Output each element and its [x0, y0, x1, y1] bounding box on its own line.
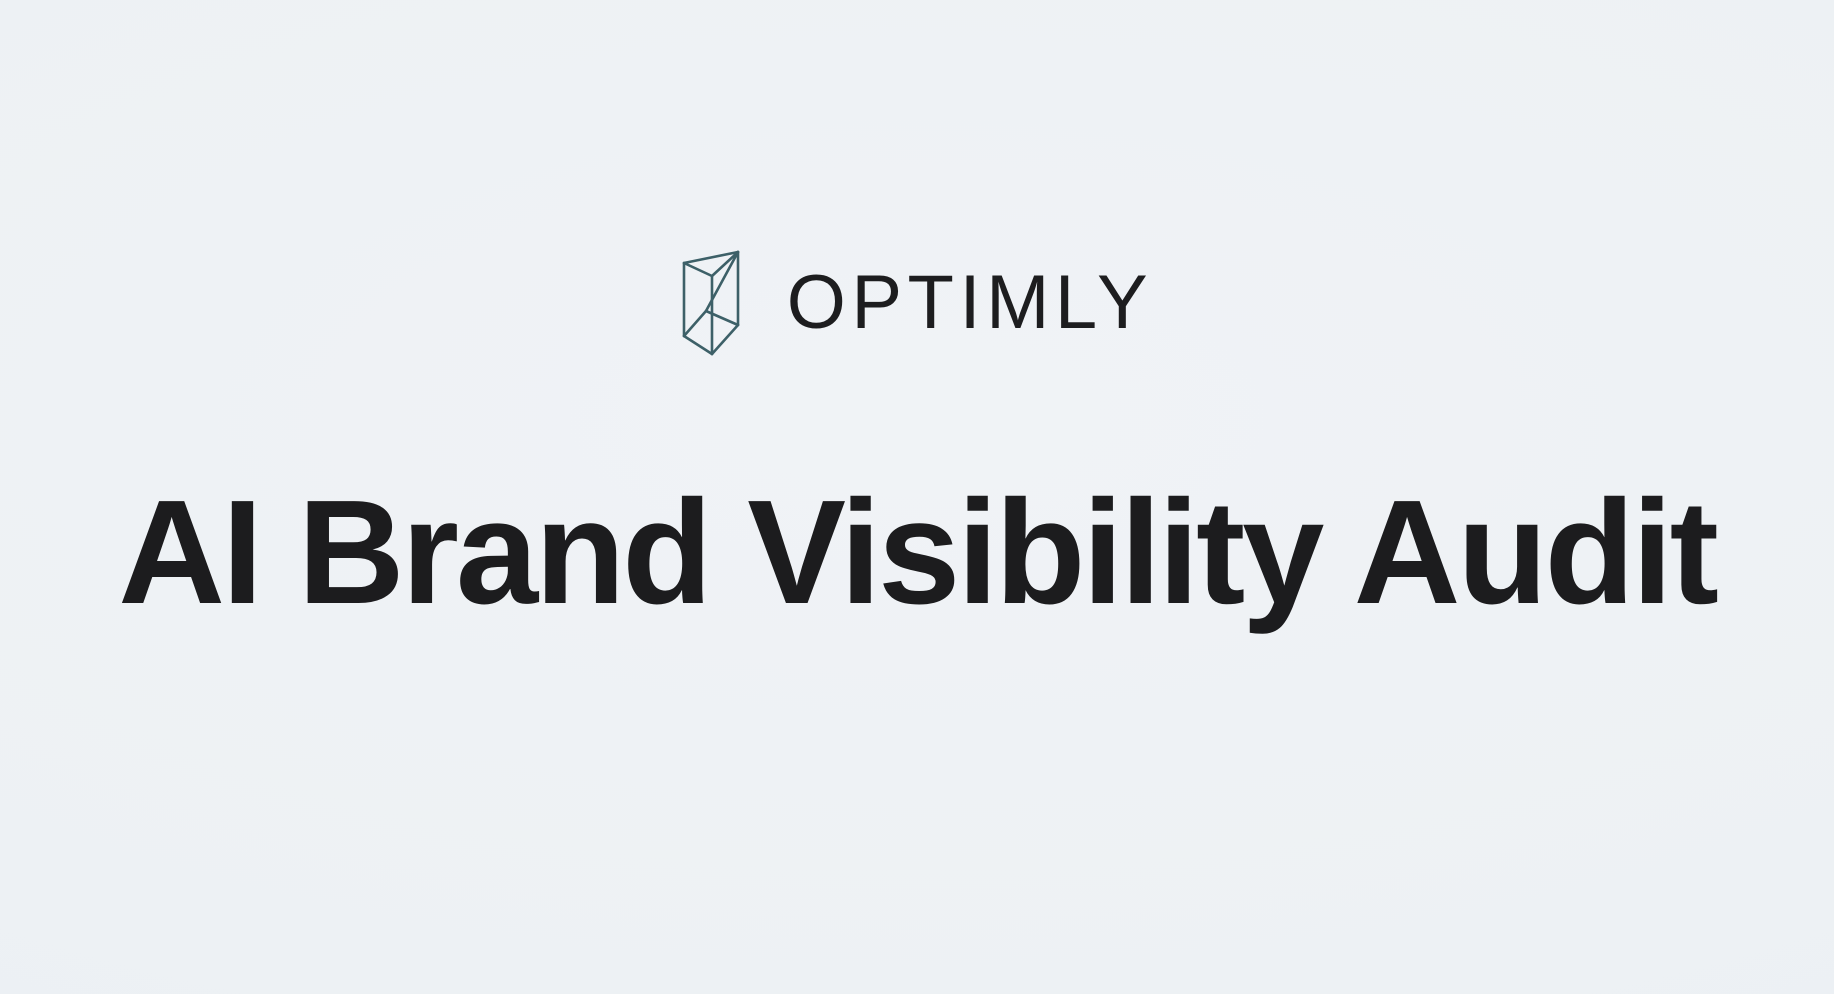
title-slide: OPTIMLY AI Brand Visibility Audit: [0, 0, 1834, 994]
page-title: AI Brand Visibility Audit: [0, 470, 1834, 636]
prism-logo-icon: [681, 249, 743, 357]
brand-wordmark: OPTIMLY: [787, 265, 1153, 341]
brand-lockup: OPTIMLY: [0, 248, 1834, 356]
